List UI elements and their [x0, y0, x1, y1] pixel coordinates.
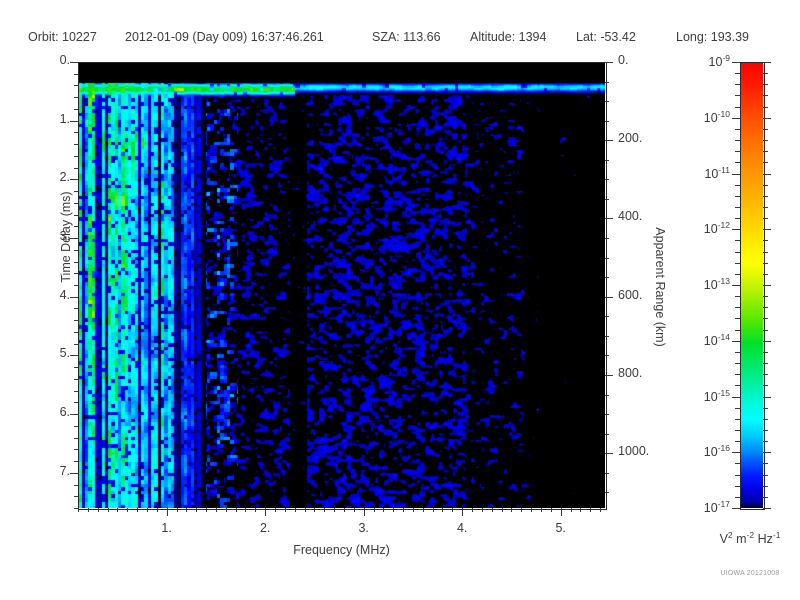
colorbar-tick	[763, 95, 768, 96]
ytick-left	[74, 285, 78, 286]
ytick-left	[74, 461, 78, 462]
ytick-left	[74, 496, 78, 497]
colorbar-tick	[735, 385, 740, 386]
y-axis-title-left: Time Delay (ms)	[59, 157, 73, 317]
colorbar-tick	[735, 73, 740, 74]
header-metadata: Orbit: 10227 2012-01-09 (Day 009) 16:37:…	[0, 30, 800, 48]
ytick-left	[74, 203, 78, 204]
header-sza: SZA: 113.66	[372, 30, 441, 44]
colorbar-tick-label: 10-12	[662, 220, 730, 236]
xtick	[580, 508, 581, 512]
colorbar-tick-label: 10-11	[662, 165, 730, 181]
ytick-left	[70, 121, 78, 122]
ytick-right	[605, 218, 613, 219]
colorbar-tick	[763, 475, 768, 476]
y-axis-tick-label-left: 0.	[22, 53, 70, 67]
spectrogram-canvas	[78, 62, 605, 508]
colorbar-tick-label: 10-16	[662, 443, 730, 459]
colorbar-tick	[732, 397, 740, 398]
colorbar-tick	[732, 285, 740, 286]
xtick	[354, 508, 355, 512]
colorbar-tick	[763, 441, 768, 442]
header-latitude: Lat: -53.42	[576, 30, 636, 44]
colorbar-tick-label: 10-9	[662, 53, 730, 69]
colorbar-tick	[735, 207, 740, 208]
ytick-left	[74, 391, 78, 392]
colorbar-tick	[763, 252, 768, 253]
ytick-right	[605, 453, 613, 454]
xtick	[147, 508, 148, 512]
colorbar-tick	[732, 508, 740, 509]
y-axis-tick-label-right: 800.	[618, 366, 642, 380]
colorbar-tick	[735, 486, 740, 487]
xtick	[374, 508, 375, 512]
xtick	[117, 508, 118, 512]
colorbar-tick	[763, 118, 771, 119]
ytick-right	[605, 82, 609, 83]
xtick	[167, 508, 168, 516]
colorbar-tick	[763, 296, 768, 297]
y-axis-tick-label-right: 1000.	[618, 444, 649, 458]
ytick-left	[74, 109, 78, 110]
colorbar-tick	[735, 151, 740, 152]
xtick	[472, 508, 473, 512]
xtick	[98, 508, 99, 512]
y-axis-tick-label-right: 0.	[618, 53, 628, 67]
colorbar-tick	[732, 341, 740, 342]
colorbar-tick	[735, 218, 740, 219]
xtick	[196, 508, 197, 512]
colorbar-tick	[763, 140, 768, 141]
header-datetime: 2012-01-09 (Day 009) 16:37:46.261	[125, 30, 324, 44]
ytick-left	[74, 379, 78, 380]
ytick-left	[74, 74, 78, 75]
ytick-left	[70, 414, 78, 415]
colorbar-tick	[735, 374, 740, 375]
ytick-left	[74, 226, 78, 227]
colorbar-tick	[763, 363, 768, 364]
colorbar-tick	[763, 385, 768, 386]
colorbar-tick	[763, 196, 768, 197]
xtick	[521, 508, 522, 512]
y-axis-tick-label-left: 6.	[22, 405, 70, 419]
y-axis-tick-label-right: 200.	[618, 131, 642, 145]
colorbar-tick	[763, 207, 768, 208]
colorbar-tick	[735, 463, 740, 464]
xtick	[127, 508, 128, 512]
xtick	[186, 508, 187, 512]
colorbar-tick-label: 10-17	[662, 499, 730, 515]
ytick-left	[74, 156, 78, 157]
ytick-right	[605, 336, 609, 337]
ytick-right	[605, 277, 609, 278]
ytick-left	[70, 473, 78, 474]
ytick-left	[74, 168, 78, 169]
y-axis-tick-label-right: 400.	[618, 209, 642, 223]
colorbar-tick	[735, 430, 740, 431]
ytick-right	[605, 258, 609, 259]
ytick-left	[74, 344, 78, 345]
xtick	[275, 508, 276, 512]
ytick-right	[605, 414, 609, 415]
ytick-right	[605, 179, 609, 180]
xtick	[324, 508, 325, 512]
y-axis-tick-label-left: 5.	[22, 346, 70, 360]
colorbar-tick	[763, 419, 768, 420]
y-axis-tick-label-left: 1.	[22, 112, 70, 126]
colorbar-tick	[735, 84, 740, 85]
colorbar-tick	[763, 452, 771, 453]
ytick-left	[74, 262, 78, 263]
ytick-right	[605, 395, 609, 396]
colorbar-tick	[735, 196, 740, 197]
x-axis-tick-label: 5.	[552, 521, 570, 535]
spectrogram-plot	[78, 62, 605, 508]
ytick-left	[74, 144, 78, 145]
colorbar-tick	[735, 441, 740, 442]
colorbar-tick	[763, 497, 768, 498]
xtick	[216, 508, 217, 512]
colorbar-tick-label: 10-13	[662, 276, 730, 292]
xtick	[344, 508, 345, 512]
xtick	[285, 508, 286, 512]
ytick-left	[74, 320, 78, 321]
ytick-right	[605, 199, 609, 200]
colorbar-tick	[735, 296, 740, 297]
colorbar-tick	[763, 107, 768, 108]
colorbar-tick	[735, 263, 740, 264]
colorbar-tick	[732, 118, 740, 119]
credit-text: UIOWA 20121008	[690, 570, 800, 577]
colorbar-tick-label: 10-15	[662, 388, 730, 404]
colorbar-tick	[732, 62, 740, 63]
ytick-left	[74, 332, 78, 333]
colorbar-tick	[735, 318, 740, 319]
ytick-right	[605, 160, 609, 161]
colorbar-tick	[763, 318, 768, 319]
colorbar-tick	[735, 497, 740, 498]
colorbar-tick	[763, 218, 768, 219]
colorbar-tick	[732, 229, 740, 230]
colorbar-tick	[763, 151, 768, 152]
ytick-left	[74, 449, 78, 450]
colorbar-tick	[735, 475, 740, 476]
colorbar-tick	[763, 84, 768, 85]
xtick	[137, 508, 138, 512]
colorbar-tick	[763, 263, 768, 264]
colorbar-tick	[735, 363, 740, 364]
y-axis-tick-label-left: 7.	[22, 464, 70, 478]
ytick-right	[605, 375, 613, 376]
colorbar-tick	[763, 129, 768, 130]
colorbar-tick	[763, 62, 771, 63]
colorbar-tick	[735, 408, 740, 409]
colorbar-tick	[763, 73, 768, 74]
ytick-right	[605, 121, 609, 122]
colorbar-tick	[732, 174, 740, 175]
xtick	[413, 508, 414, 512]
xtick	[531, 508, 532, 512]
colorbar-tick	[763, 352, 768, 353]
xtick	[393, 508, 394, 512]
xtick	[590, 508, 591, 512]
xtick	[255, 508, 256, 512]
ytick-left	[70, 62, 78, 63]
colorbar-tick	[763, 508, 771, 509]
colorbar-tick	[763, 408, 768, 409]
colorbar-tick	[735, 107, 740, 108]
xtick	[561, 508, 562, 516]
ytick-right	[605, 316, 609, 317]
colorbar-tick	[763, 486, 768, 487]
colorbar-tick	[763, 229, 771, 230]
xtick	[492, 508, 493, 512]
xtick	[433, 508, 434, 512]
xtick	[157, 508, 158, 512]
xtick	[551, 508, 552, 512]
colorbar-tick	[763, 274, 768, 275]
xtick	[305, 508, 306, 512]
colorbar-tick	[763, 285, 771, 286]
ytick-right	[605, 238, 609, 239]
colorbar-tick	[763, 240, 768, 241]
x-axis-title: Frequency (MHz)	[78, 543, 605, 557]
ytick-left	[74, 250, 78, 251]
colorbar-tick	[763, 397, 771, 398]
x-axis-tick-label: 1.	[158, 521, 176, 535]
xtick	[177, 508, 178, 512]
xtick	[226, 508, 227, 512]
ytick-left	[74, 273, 78, 274]
ytick-left	[74, 191, 78, 192]
colorbar-tick	[735, 162, 740, 163]
colorbar-tick	[763, 341, 771, 342]
colorbar-tick-label: 10-10	[662, 109, 730, 125]
colorbar-tick	[735, 140, 740, 141]
colorbar-tick	[763, 307, 768, 308]
xtick	[571, 508, 572, 512]
ytick-left	[74, 438, 78, 439]
colorbar-tick	[735, 419, 740, 420]
ytick-right	[605, 492, 609, 493]
header-longitude: Long: 193.39	[676, 30, 749, 44]
xtick	[462, 508, 463, 516]
ytick-right	[605, 140, 613, 141]
colorbar-tick	[763, 430, 768, 431]
colorbar-units-label: V2 m-2 Hz-1	[690, 530, 800, 546]
xtick	[295, 508, 296, 512]
xtick	[236, 508, 237, 512]
xtick	[78, 508, 79, 512]
colorbar-tick-label: 10-14	[662, 332, 730, 348]
colorbar-gradient	[740, 62, 763, 508]
xtick	[403, 508, 404, 512]
xtick	[423, 508, 424, 512]
xtick	[108, 508, 109, 512]
colorbar-tick	[763, 330, 768, 331]
colorbar-tick	[763, 174, 771, 175]
ytick-left	[74, 426, 78, 427]
colorbar-tick	[735, 252, 740, 253]
ytick-left	[74, 485, 78, 486]
colorbar-tick	[763, 162, 768, 163]
xtick	[314, 508, 315, 512]
colorbar-tick	[735, 129, 740, 130]
colorbar-tick	[763, 374, 768, 375]
xtick	[88, 508, 89, 512]
ytick-left	[74, 215, 78, 216]
x-axis-tick-label: 4.	[453, 521, 471, 535]
ytick-left	[74, 308, 78, 309]
xtick	[541, 508, 542, 512]
xtick	[265, 508, 266, 516]
ytick-left	[74, 85, 78, 86]
colorbar-tick	[735, 95, 740, 96]
header-orbit: Orbit: 10227	[28, 30, 97, 44]
ytick-right	[605, 355, 609, 356]
header-altitude: Altitude: 1394	[470, 30, 546, 44]
x-axis-tick-label: 3.	[355, 521, 373, 535]
ytick-left	[74, 402, 78, 403]
xtick	[206, 508, 207, 512]
ytick-right	[605, 297, 613, 298]
ytick-left	[70, 355, 78, 356]
ytick-left	[74, 132, 78, 133]
xtick	[452, 508, 453, 512]
colorbar-tick	[735, 240, 740, 241]
ytick-left	[74, 97, 78, 98]
xtick	[600, 508, 601, 512]
xtick	[245, 508, 246, 512]
colorbar-tick	[735, 274, 740, 275]
ytick-left	[74, 367, 78, 368]
colorbar-tick	[735, 352, 740, 353]
xtick	[482, 508, 483, 512]
xtick	[511, 508, 512, 512]
ytick-right	[605, 434, 609, 435]
ytick-right	[605, 473, 609, 474]
xtick	[383, 508, 384, 512]
xtick	[364, 508, 365, 516]
ytick-right	[605, 101, 609, 102]
x-axis-tick-label: 2.	[256, 521, 274, 535]
xtick	[502, 508, 503, 512]
colorbar-tick	[732, 452, 740, 453]
colorbar-tick	[763, 463, 768, 464]
colorbar-tick	[735, 185, 740, 186]
xtick	[442, 508, 443, 512]
colorbar-tick	[735, 330, 740, 331]
y-axis-tick-label-right: 600.	[618, 288, 642, 302]
colorbar-tick	[763, 185, 768, 186]
ytick-right	[605, 62, 613, 63]
colorbar-tick	[735, 307, 740, 308]
xtick	[334, 508, 335, 512]
